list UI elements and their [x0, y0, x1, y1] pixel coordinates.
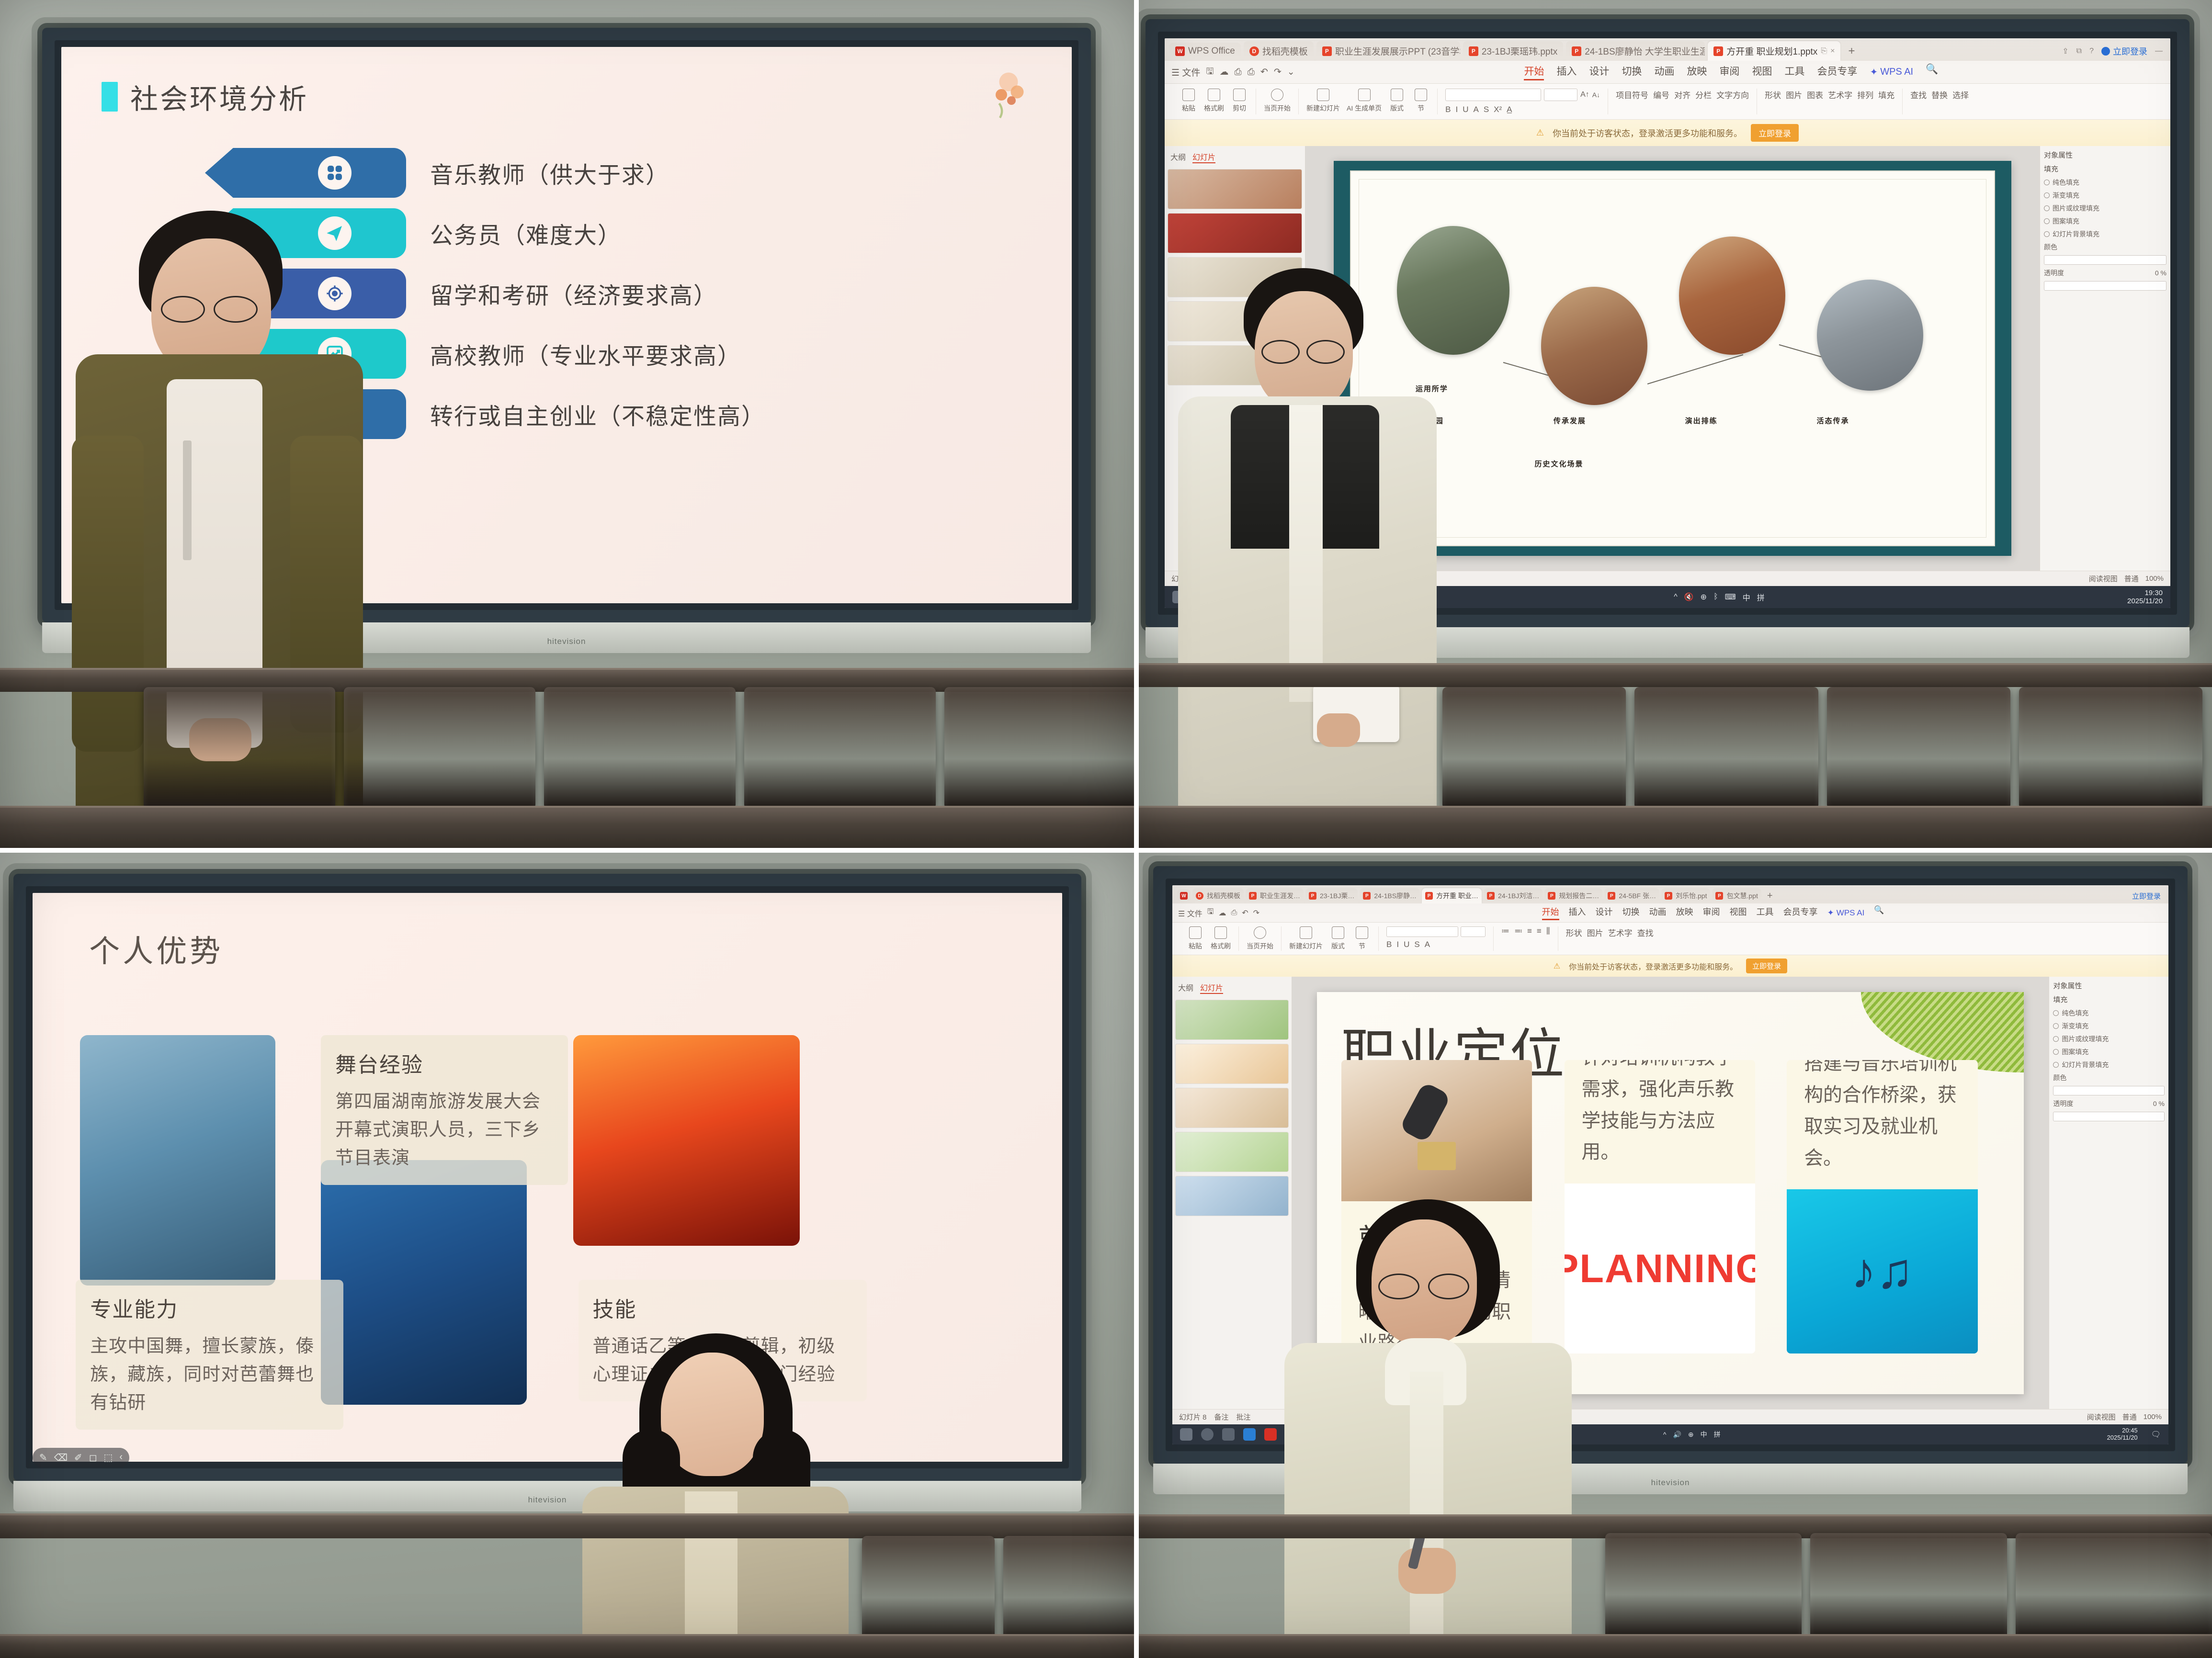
seat	[944, 687, 1136, 807]
guest-notice-bar: ⚠ 你当前处于访客状态，登录激活更多功能和服务。 立即登录	[1172, 955, 2168, 977]
ribbon-tab-insert[interactable]: 插入	[1556, 64, 1577, 80]
radio-icon	[2044, 218, 2050, 224]
eraser-icon[interactable]: ⌫	[54, 1452, 68, 1464]
ribbon-tab-member[interactable]: 会员专享	[1817, 64, 1857, 80]
fill-option[interactable]: 幻灯片背景填充	[2053, 1060, 2165, 1070]
font-color-button[interactable]: A	[1425, 940, 1430, 949]
fill-option[interactable]: 幻灯片背景填充	[2044, 229, 2167, 239]
clock-time: 19:30	[2127, 589, 2163, 597]
ime-mode-icon[interactable]: 拼	[1757, 591, 1765, 603]
wps-ai-button[interactable]: ✦ WPS AI	[1870, 64, 1913, 80]
glasses-icon	[1261, 340, 1300, 364]
undo-icon[interactable]: ↶	[1242, 908, 1248, 918]
ribbon-tab-review[interactable]: 审阅	[1703, 905, 1720, 920]
transparency-value: 0 %	[2153, 1100, 2165, 1107]
ribbon-tab-start[interactable]: 开始	[1524, 64, 1544, 80]
ai-sparkle-icon: ✦	[1827, 908, 1834, 918]
planning-word: PLANNING	[1565, 1246, 1755, 1292]
tab-label: 找稻壳模板	[1262, 45, 1308, 57]
tab-label: 职业生涯发…	[1260, 891, 1300, 901]
ai-page-button[interactable]: AI 生成单页	[1347, 89, 1382, 113]
search-icon[interactable]	[1201, 1428, 1214, 1441]
tab-label: 职业生涯发展展示PPT (23音学3模仿	[1335, 45, 1460, 57]
font-style-buttons: B I U S A	[1386, 940, 1486, 949]
quick-access-toolbar: ☰ 文件 🖫 ☁ ⎙ ⎙ ↶ ↷ ⌄	[1171, 65, 1295, 80]
select-button[interactable]: 选择	[1952, 89, 1969, 101]
columns-button[interactable]: 分栏	[1695, 89, 1712, 101]
share-icon[interactable]: ⇪	[2062, 46, 2068, 56]
font-color-button[interactable]: A	[1473, 105, 1478, 114]
desk-row	[1136, 663, 2212, 687]
edge-icon[interactable]	[1243, 1428, 1256, 1441]
help-icon[interactable]: ?	[2089, 47, 2094, 56]
ppt-icon: P	[1608, 892, 1615, 900]
fill-option[interactable]: 渐变填充	[2044, 191, 2167, 200]
docer-icon: D	[1196, 892, 1203, 900]
text-highlight-button[interactable]: A̲	[1507, 105, 1512, 114]
tab-label: 方开重 职业…	[1436, 891, 1478, 901]
color-field[interactable]	[2044, 255, 2167, 265]
picture-button[interactable]: 图片	[1587, 926, 1603, 938]
wps-logo-icon: W	[1175, 46, 1185, 56]
ribbon-tab-tools[interactable]: 工具	[1757, 905, 1774, 920]
collage-gutter-vertical	[1134, 0, 1139, 1658]
seat	[2016, 1533, 2212, 1636]
seat-row	[0, 687, 1136, 807]
comments-button[interactable]: 批注	[1236, 1412, 1251, 1422]
slide-thumbnail[interactable]	[1168, 213, 1302, 253]
seat-row	[0, 1536, 1136, 1639]
underline-button[interactable]: U	[1463, 105, 1468, 114]
print-icon[interactable]: ⎙	[1235, 67, 1242, 78]
ime-icon[interactable]: 中	[1701, 1430, 1707, 1439]
bullets-button[interactable]: ≔	[1501, 926, 1509, 936]
caption-4: 活态传承	[1817, 416, 1849, 426]
cloud-icon[interactable]: ☁	[1218, 908, 1226, 918]
tab-slides[interactable]: 幻灯片	[1192, 151, 1215, 163]
search-icon[interactable]: 🔍	[1926, 64, 1938, 80]
whiteboard-toolbar: ✎ ⌫ ✐ ◻ ⬚ ‹	[33, 1448, 129, 1467]
ime-icon[interactable]: 中	[1743, 591, 1750, 603]
slide-thumbnail[interactable]	[1175, 1000, 1289, 1040]
ribbon-tab-animation[interactable]: 动画	[1654, 64, 1674, 80]
slide-thumbnail[interactable]	[1175, 1132, 1289, 1172]
ppt-icon: P	[1548, 892, 1555, 900]
section-button[interactable]: 节	[1353, 926, 1371, 951]
ai-sparkle-icon: ✦	[1870, 66, 1878, 78]
column-text: 提升教学能力 针对培训机构教学需求，强化声乐教学技能与方法应用。	[1565, 1060, 1755, 1184]
photo-card-concert	[573, 1035, 800, 1246]
tab-label: 23-1BJ栗瑶玮.pptx	[1482, 45, 1557, 57]
taskbar-clock[interactable]: 19:30 2025/11/20	[2127, 589, 2163, 606]
notice-login-button[interactable]: 立即登录	[1751, 124, 1799, 142]
ribbon-tab-slideshow[interactable]: 放映	[1687, 64, 1707, 80]
new-slide-button[interactable]: 新建幻灯片	[1306, 89, 1340, 113]
select-icon[interactable]: ⬚	[103, 1452, 113, 1464]
find-button[interactable]: 查找	[1637, 926, 1654, 938]
tab-ppt-3[interactable]: P 24-1BS廖静怡 大学生职业生涯规划	[1566, 41, 1705, 61]
ribbon-tab-view[interactable]: 视图	[1752, 64, 1772, 80]
new-tab-button[interactable]: +	[1763, 891, 1777, 902]
ribbon-group-insert: 形状 图片 图表 艺术字 排列 填充	[1757, 89, 1903, 114]
print-preview-icon[interactable]: ⎙	[1248, 67, 1255, 78]
font-family-select[interactable]	[1386, 926, 1458, 937]
tab-outline[interactable]: 大纲	[1170, 151, 1186, 163]
tab-wps-office[interactable]: W	[1177, 889, 1191, 902]
color-field-label: 颜色	[2044, 242, 2167, 252]
photo-oval-2	[1541, 287, 1647, 405]
seat	[344, 687, 535, 807]
ribbon-tab-tools[interactable]: 工具	[1784, 64, 1804, 80]
quick-access-toolbar: ☰ 文件 🖫 ☁ ⎙ ↶ ↷	[1178, 906, 1259, 919]
section-button[interactable]: 节	[1412, 89, 1429, 113]
ribbon-tab-start[interactable]: 开始	[1542, 905, 1559, 920]
tab-label: 方开重 职业规划1.pptx	[1726, 45, 1817, 57]
photo-oval-4	[1817, 280, 1923, 391]
ribbon-tab-transition[interactable]: 切换	[1622, 905, 1640, 920]
undo-icon[interactable]: ↶	[1260, 67, 1268, 78]
tab-ppt-7[interactable]: P 刘乐怡.ppt	[1661, 888, 1710, 903]
save-icon[interactable]: 🖫	[1207, 906, 1214, 919]
grid-icon	[318, 156, 352, 190]
ppt-icon: P	[1469, 46, 1478, 56]
volume-mute-icon[interactable]: 🔇	[1684, 592, 1694, 602]
photo-card-dance	[80, 1035, 276, 1286]
slide-thumbnail[interactable]	[1175, 1088, 1289, 1128]
slide-title: 社会环境分析	[130, 77, 308, 117]
back-icon[interactable]: ‹	[119, 1452, 123, 1464]
view-controls: 阅读视图 普通 100%	[2087, 1412, 2162, 1422]
ribbon-tab-view[interactable]: 视图	[1730, 905, 1747, 920]
panel-title: 对象属性	[2053, 981, 2165, 991]
ribbon-tab-design[interactable]: 设计	[1596, 905, 1613, 920]
login-button[interactable]: 立即登录	[2101, 45, 2147, 57]
tab-wps-office[interactable]: W WPS Office	[1169, 43, 1241, 60]
transparency-slider[interactable]	[2044, 281, 2167, 291]
column-teaching-ability: PLANNING 提升教学能力 针对培训机构教学需求，强化声乐教学技能与方法应用…	[1565, 1060, 1755, 1353]
window-tab-bar: W WPS Office D 找稻壳模板 P 职业生涯发展展示PPT (23音学…	[1165, 38, 2170, 61]
tab-ppt-4[interactable]: P 24-1BJ刘洁…	[1484, 888, 1543, 903]
text-direction-button[interactable]: 文字方向	[1716, 89, 1749, 101]
photo-oval-3	[1679, 237, 1785, 355]
fan-item-label: 音乐教师（供大于求）	[430, 156, 669, 190]
superscript-button[interactable]: X²	[1494, 105, 1502, 114]
clock-date: 2025/11/20	[2127, 597, 2163, 605]
ribbon-tabs: 开始 插入 设计 切换 动画 放映 审阅 视图 工具 会员专享 ✦	[1542, 905, 1884, 920]
interactive-display-bottom-left: 个人优势 专业能力 主攻中国舞，擅长蒙族，傣族，藏族，同时对芭蕾舞也有钻研 舞台	[13, 874, 1081, 1481]
fill-option[interactable]: 图片或纹理填充	[2053, 1034, 2165, 1044]
save-icon[interactable]: 🖫	[1206, 65, 1214, 80]
shapes-icon[interactable]: ◻	[89, 1452, 97, 1464]
wordart-button[interactable]: 艺术字	[1828, 89, 1852, 101]
radio-icon	[2044, 231, 2050, 237]
notes-button[interactable]: 备注	[1214, 1412, 1229, 1422]
panel-top-right: W WPS Office D 找稻壳模板 P 职业生涯发展展示PPT (23音学…	[1136, 0, 2212, 850]
close-icon[interactable]: ×	[1830, 47, 1835, 56]
network-icon[interactable]: ⊕	[1688, 1431, 1694, 1439]
ribbon-group-font: B I U S A	[1379, 926, 1494, 951]
desk-row-front	[0, 806, 1136, 850]
seat	[744, 687, 936, 807]
ribbon-tab-insert[interactable]: 插入	[1569, 905, 1586, 920]
slide-title: 个人优势	[89, 927, 223, 971]
keyboard-icon[interactable]: ⌨	[1725, 592, 1736, 602]
microphone-icon	[1399, 1082, 1451, 1143]
fill-option[interactable]: 图案填充	[2053, 1047, 2165, 1057]
bold-button[interactable]: B	[1386, 940, 1392, 949]
seat	[1003, 1536, 1136, 1639]
trophy-base	[1418, 1142, 1456, 1170]
slide-thumbnail[interactable]	[1175, 1044, 1289, 1084]
fill-option[interactable]: 纯色填充	[2044, 178, 2167, 187]
ribbon-group-paragraph: ≔ ≕ ≡ ≡ ⫼	[1494, 926, 1558, 951]
fill-option[interactable]: 图片或纹理填充	[2044, 203, 2167, 213]
font-size-select[interactable]	[1461, 926, 1486, 937]
tab-label: 24-1BS廖静…	[1374, 891, 1417, 901]
ribbon-tab-design[interactable]: 设计	[1589, 64, 1609, 80]
tab-docer[interactable]: D 找稻壳模板	[1192, 888, 1244, 903]
ribbon-tab-review[interactable]: 审阅	[1719, 64, 1739, 80]
caption-bottom: 历史文化场景	[1535, 459, 1584, 469]
network-icon[interactable]: ⊕	[1701, 592, 1707, 602]
find-button[interactable]: 查找	[1910, 89, 1927, 101]
panel-bottom-right: W D 找稻壳模板 P 职业生涯发… P 23-1BJ栗…	[1136, 850, 2212, 1658]
redo-icon[interactable]: ↷	[1274, 67, 1282, 78]
taskview-icon[interactable]	[1222, 1428, 1235, 1441]
ribbon-group-present: 当页开始	[1239, 926, 1282, 951]
desk-row	[0, 1513, 1136, 1538]
tab-ppt-2[interactable]: P 23-1BJ栗…	[1305, 888, 1358, 903]
search-icon[interactable]: 🔍	[1874, 905, 1884, 920]
fill-option[interactable]: 渐变填充	[2053, 1021, 2165, 1031]
shapes-button[interactable]: 形状	[1566, 926, 1582, 938]
ribbon-tab-animation[interactable]: 动画	[1649, 905, 1667, 920]
object-properties-panel: 对象属性 填充 纯色填充 渐变填充 图片或纹理填充 图案填充 幻灯片背景填充 颜…	[2040, 146, 2170, 571]
notice-login-button[interactable]: 立即登录	[1746, 959, 1787, 973]
fill-option[interactable]: 纯色填充	[2053, 1008, 2165, 1018]
volume-icon[interactable]: 🔊	[1673, 1431, 1681, 1439]
menu-bar: ☰ 文件 🖫 ☁ ⎙ ↶ ↷ 开始 插入 设计 切换 动画	[1172, 903, 2168, 923]
card-heading: 舞台经验	[335, 1048, 554, 1078]
ribbon-tab-transition[interactable]: 切换	[1622, 64, 1642, 80]
file-menu-button[interactable]: ☰ 文件	[1178, 907, 1202, 919]
transparency-field-label: 透明度 0 %	[2044, 268, 2167, 278]
slide-thumbnail[interactable]	[1168, 169, 1302, 209]
notice-text: 你当前处于访客状态，登录激活更多功能和服务。	[1569, 960, 1737, 972]
tab-ppt-1[interactable]: P 职业生涯发…	[1246, 888, 1304, 903]
chevron-down-icon[interactable]: ⌄	[1287, 67, 1295, 78]
wordart-button[interactable]: 艺术字	[1608, 926, 1633, 938]
align-left-button[interactable]: ≡	[1527, 926, 1532, 936]
italic-button[interactable]: I	[1455, 105, 1458, 114]
tab-ppt-8[interactable]: P 包文慧.ppt	[1712, 888, 1761, 903]
ppt-icon: P	[1249, 892, 1257, 900]
lanyard	[183, 440, 192, 560]
layout-button[interactable]: 版式	[1388, 89, 1406, 113]
notice-text: 你当前处于访客状态，登录激活更多功能和服务。	[1553, 127, 1742, 139]
highlight-icon[interactable]: ✐	[74, 1452, 82, 1464]
new-tab-button[interactable]: +	[1843, 45, 1860, 58]
menu-bar: ☰ 文件 🖫 ☁ ⎙ ⎙ ↶ ↷ ⌄ 开始 插入 设计	[1165, 61, 2170, 84]
align-button[interactable]: 对齐	[1674, 89, 1690, 101]
shrink-font-icon[interactable]: A↓	[1592, 91, 1600, 99]
tab-split-icon[interactable]: ⎘	[1821, 47, 1827, 56]
pen-icon[interactable]: ✎	[39, 1452, 47, 1464]
panel-section: 填充	[2053, 994, 2165, 1004]
redo-icon[interactable]: ↷	[1253, 908, 1259, 918]
bluetooth-icon[interactable]: ᛒ	[1713, 593, 1718, 601]
radio-icon	[2044, 205, 2050, 211]
cloud-icon[interactable]: ☁	[1220, 67, 1229, 78]
tab-docer[interactable]: D 找稻壳模板	[1244, 41, 1314, 61]
fill-option[interactable]: 图案填充	[2044, 216, 2167, 226]
format-painter-button[interactable]: 格式刷	[1211, 926, 1231, 951]
radio-icon	[2044, 192, 2050, 198]
login-button[interactable]: 立即登录	[2132, 891, 2161, 901]
tab-label: 23-1BJ栗…	[1320, 891, 1354, 901]
italic-button[interactable]: I	[1396, 940, 1399, 949]
tab-label: 24-1BJ刘洁…	[1498, 891, 1539, 901]
screen-brand-label: hitevision	[547, 637, 586, 646]
ribbon-group-font: A↑ A↓ B I U A S X² A̲	[1438, 89, 1608, 114]
ppt-icon: P	[1309, 892, 1316, 900]
ppt-icon: P	[1715, 892, 1723, 900]
ribbon-group-editing: 查找 替换 选择	[1903, 89, 1976, 114]
tab-slides[interactable]: 幻灯片	[1200, 981, 1223, 994]
numbering-button[interactable]: 编号	[1653, 89, 1669, 101]
start-from-current-button[interactable]: 当页开始	[1264, 89, 1291, 113]
card-body: 主攻中国舞，擅长蒙族，傣族，藏族，同时对芭蕾舞也有钻研	[90, 1332, 329, 1417]
strikethrough-button[interactable]: S	[1414, 940, 1419, 949]
glasses-icon	[1378, 1274, 1419, 1299]
color-field[interactable]	[2053, 1086, 2165, 1095]
shapes-button[interactable]: 形状	[1765, 89, 1781, 101]
strikethrough-button[interactable]: S	[1484, 105, 1489, 114]
ribbon-group-paragraph: 项目符号 编号 对齐 分栏 文字方向	[1608, 89, 1757, 114]
clock-time: 20:45	[2107, 1427, 2138, 1434]
connector-line	[1647, 354, 1744, 384]
outline-tabs: 大纲 幻灯片	[1175, 980, 1289, 996]
align-center-button[interactable]: ≡	[1537, 926, 1542, 936]
normal-view-button[interactable]: 普通	[2122, 1412, 2137, 1422]
paragraph-buttons: 项目符号 编号 对齐 分栏 文字方向	[1616, 89, 1749, 101]
new-slide-button[interactable]: 新建幻灯片	[1289, 926, 1323, 951]
desk-row-front	[0, 1634, 1136, 1658]
file-menu-button[interactable]: ☰ 文件	[1171, 66, 1200, 79]
tab-label: 找稻壳模板	[1207, 891, 1240, 901]
tab-ppt-1[interactable]: P 职业生涯发展展示PPT (23音学3模仿	[1316, 41, 1460, 61]
replace-button[interactable]: 替换	[1931, 89, 1948, 101]
print-icon[interactable]: ⎙	[1231, 909, 1237, 917]
clock-date: 2025/11/20	[2107, 1434, 2138, 1442]
font-size-select[interactable]	[1544, 89, 1577, 101]
cut-button[interactable]: 剪切	[1231, 89, 1248, 113]
fan-item-label: 转行或自主创业（不稳定性高）	[430, 397, 765, 431]
column-body: 针对培训机构教学需求，强化声乐教学技能与方法应用。	[1582, 1060, 1738, 1168]
normal-view-button[interactable]: 普通	[2124, 574, 2139, 584]
notification-icon[interactable]: 🗨	[2151, 1430, 2161, 1439]
tab-ppt-active[interactable]: P 方开重 职业规划1.pptx ⎘ ×	[1708, 41, 1840, 61]
start-icon[interactable]	[1180, 1428, 1192, 1441]
screen-brand-label: hitevision	[528, 1495, 567, 1505]
numbering-button[interactable]: ≕	[1514, 926, 1522, 936]
wps-ai-label: WPS AI	[1837, 908, 1865, 918]
ribbon-tabs: 开始 插入 设计 切换 动画 放映 审阅 视图 工具 会员专享 ✦	[1524, 64, 1938, 80]
taskbar-clock[interactable]: 20:45 2025/11/20	[2107, 1427, 2138, 1442]
format-painter-button[interactable]: 格式刷	[1204, 89, 1224, 113]
bullets-button[interactable]: 项目符号	[1616, 89, 1648, 101]
radio-icon	[2053, 1010, 2059, 1016]
reading-view-button[interactable]: 阅读视图	[2087, 1412, 2116, 1422]
wps-ai-button[interactable]: ✦ WPS AI	[1827, 905, 1865, 920]
start-from-current-button[interactable]: 当页开始	[1247, 926, 1273, 951]
panel-top-left: 社会环境分析	[0, 0, 1136, 850]
backup-icon[interactable]: ⧉	[2076, 47, 2082, 56]
paste-button[interactable]: 粘贴	[1187, 926, 1204, 951]
ribbon-tab-slideshow[interactable]: 放映	[1676, 905, 1693, 920]
ribbon-group-clipboard: 粘贴 格式刷	[1179, 926, 1239, 951]
minimize-icon[interactable]: —	[2155, 47, 2163, 56]
radio-icon	[2053, 1036, 2059, 1042]
tab-outline[interactable]: 大纲	[1178, 981, 1193, 994]
layout-button[interactable]: 版式	[1329, 926, 1347, 951]
seat	[2019, 687, 2202, 807]
seat	[862, 1536, 995, 1639]
seat-row	[1136, 687, 2212, 807]
ribbon-tab-member[interactable]: 会员专享	[1783, 905, 1818, 920]
paragraph-buttons: ≔ ≕ ≡ ≡ ⫼	[1501, 926, 1550, 936]
columns-button[interactable]: ⫼	[1546, 926, 1550, 936]
ribbon-group-present: 当页开始	[1256, 89, 1299, 114]
panel-section: 填充	[2044, 164, 2167, 174]
grow-font-icon[interactable]: A↑	[1580, 90, 1589, 99]
fan-item-label: 高校教师（专业水平要求高）	[430, 337, 741, 371]
wps-ai-label: WPS AI	[1880, 67, 1913, 78]
window-controls: 立即登录	[2132, 891, 2164, 901]
tab-ppt-5[interactable]: P 规划报告二…	[1544, 888, 1602, 903]
transparency-field-label: 透明度 0 %	[2053, 1099, 2165, 1108]
bold-button[interactable]: B	[1445, 105, 1451, 114]
zoom-level[interactable]: 100%	[2145, 575, 2164, 583]
chart-button[interactable]: 图表	[1807, 89, 1823, 101]
card-heading: 技能	[593, 1292, 852, 1323]
transparency-slider[interactable]	[2053, 1112, 2165, 1121]
arrange-button[interactable]: 排列	[1857, 89, 1873, 101]
picture-button[interactable]: 图片	[1786, 89, 1802, 101]
tab-ppt-3[interactable]: P 24-1BS廖静…	[1360, 888, 1420, 903]
glasses-icon	[161, 296, 205, 323]
tab-ppt-active[interactable]: P 方开重 职业…	[1422, 888, 1482, 903]
object-properties-panel: 对象属性 填充 纯色填充 渐变填充 图片或纹理填充 图案填充 幻灯片背景填充 颜…	[2049, 977, 2168, 1409]
login-label: 立即登录	[2113, 45, 2147, 57]
ribbon-group-slide: 新建幻灯片 AI 生成单页 版式 节	[1299, 89, 1438, 114]
chevron-up-icon[interactable]: ^	[1674, 593, 1678, 601]
slide-personal-advantage: 个人优势 专业能力 主攻中国舞，擅长蒙族，傣族，藏族，同时对芭蕾舞也有钻研 舞台	[33, 893, 1062, 1462]
reading-view-button[interactable]: 阅读视图	[2089, 574, 2118, 584]
seat	[1827, 687, 2010, 807]
ime-mode-icon[interactable]: 拼	[1714, 1430, 1721, 1439]
tab-label: 24-1BS廖静怡 大学生职业生涯规划	[1585, 45, 1705, 57]
zoom-level[interactable]: 100%	[2144, 1413, 2162, 1421]
tab-ppt-6[interactable]: P 24-5BF 张…	[1604, 888, 1659, 903]
tab-ppt-2[interactable]: P 23-1BJ栗瑶玮.pptx	[1463, 41, 1563, 61]
underline-button[interactable]: U	[1404, 940, 1409, 949]
fill-button[interactable]: 填充	[1878, 89, 1894, 101]
chevron-up-icon[interactable]: ^	[1663, 1431, 1667, 1438]
paste-button[interactable]: 粘贴	[1180, 89, 1197, 113]
font-family-select[interactable]	[1445, 89, 1541, 101]
collage-gutter-horizontal	[0, 848, 2212, 853]
